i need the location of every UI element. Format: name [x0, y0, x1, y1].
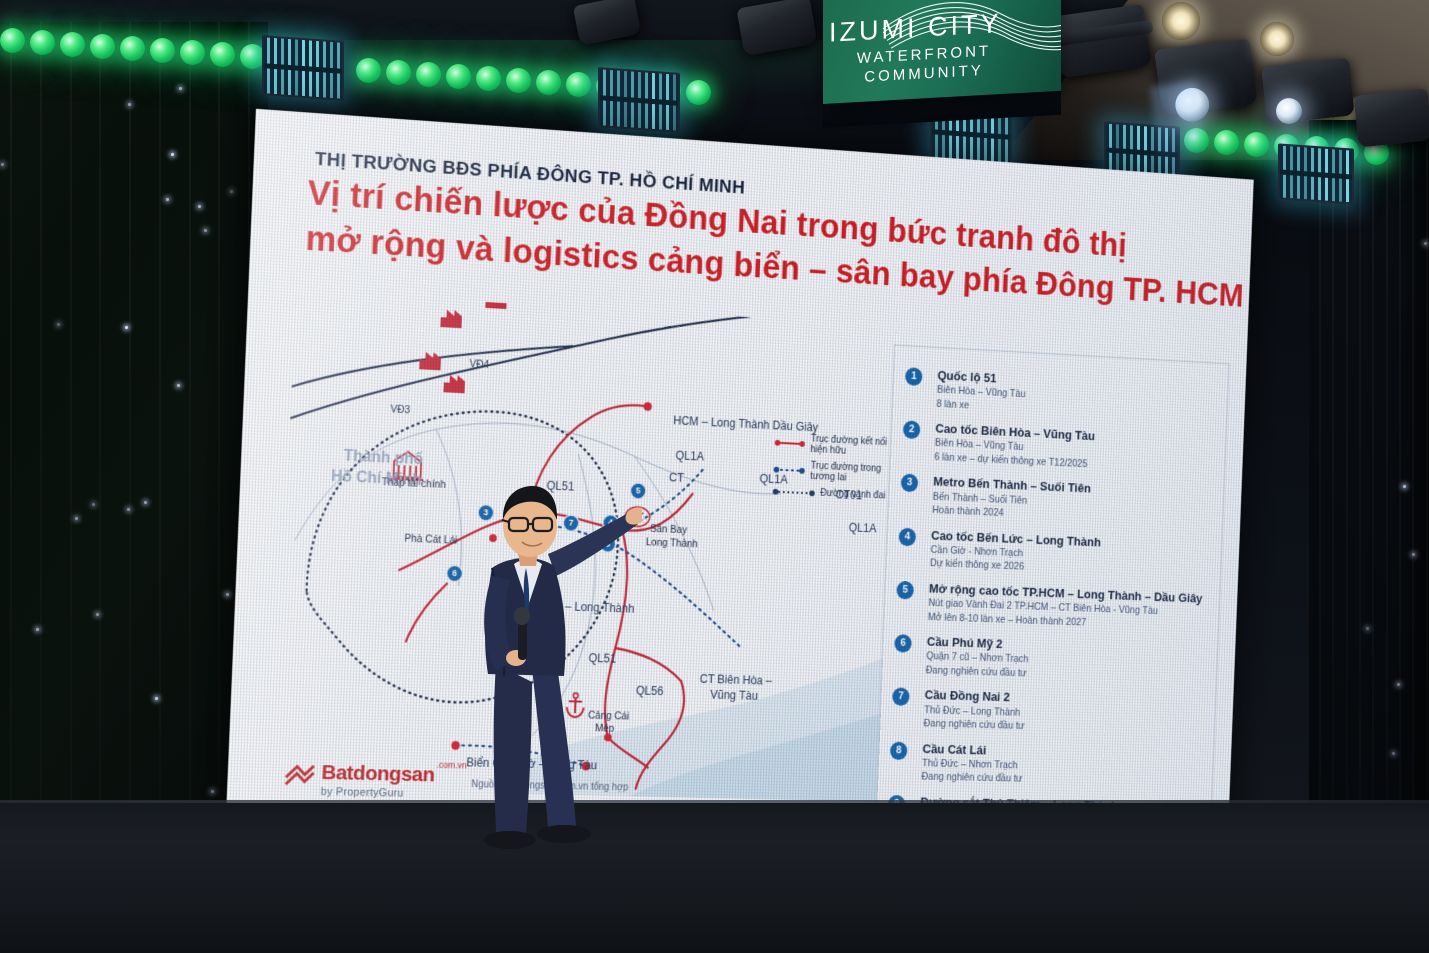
project-item[interactable]: 5Mở rộng cao tốc TP.HCM – Long Thành – D…	[895, 580, 1205, 634]
par-light	[180, 40, 205, 65]
curtain-star-light	[155, 697, 158, 700]
project-number-badge: 8	[890, 741, 908, 759]
house-logo-icon	[283, 757, 318, 788]
curtain-star-light	[96, 613, 99, 616]
map-label: Thành phố	[343, 448, 423, 469]
map-legend-item: Trục đường kết nối hiện hữu	[775, 432, 892, 459]
curtain-star-light	[36, 628, 39, 631]
moving-head-fixture	[1154, 38, 1257, 115]
curtain-star-light	[1403, 485, 1406, 488]
project-number-badge: 4	[898, 527, 916, 546]
led-wash-panel	[262, 35, 344, 101]
map-label: Sân Bay	[650, 523, 687, 536]
curtain-star-light	[226, 593, 229, 596]
par-light	[30, 30, 55, 55]
par-light	[90, 34, 115, 59]
led-wash-panel	[1278, 143, 1354, 204]
project-number-badge: 1	[905, 367, 923, 386]
par-light	[416, 62, 441, 87]
moving-head-fixture	[1052, 4, 1152, 78]
curtain-star-light	[75, 517, 78, 520]
project-item[interactable]: 7Cầu Đồng Nai 2Thủ Đức – Long ThànhĐang …	[891, 687, 1201, 738]
presentation-slide: THỊ TRƯỜNG BĐS PHÍA ĐÔNG TP. HỒ CHÍ MINH…	[224, 109, 1254, 876]
logo-name: Batdongsan	[321, 761, 435, 786]
par-light	[1244, 132, 1269, 157]
industrial-zone-icons	[418, 291, 507, 395]
par-light	[120, 36, 145, 61]
curtain-star-light	[198, 205, 201, 208]
project-number-badge: 6	[894, 634, 912, 653]
brand-logo: Batdongsan .com.vn by PropertyGuru	[282, 757, 435, 800]
par-light	[506, 68, 531, 93]
curtain-star-light	[179, 87, 182, 90]
project-number-badge: 2	[903, 421, 921, 440]
curtain-star-light	[144, 501, 147, 504]
par-light	[150, 38, 175, 63]
project-item[interactable]: 8Cầu Cát LáiThủ Đức – Nhơn TrạchĐang ngh…	[889, 740, 1199, 790]
par-light	[210, 42, 235, 67]
project-number-badge: 7	[892, 688, 910, 707]
legend-line-existing-icon	[776, 442, 804, 445]
map-label: CT	[669, 471, 684, 485]
map-label: QL1A	[848, 521, 876, 535]
led-wash-panel	[598, 67, 680, 133]
map-label: CT Biên Hòa –	[699, 672, 772, 688]
par-light	[0, 28, 25, 53]
map-label: Vũng Tàu	[710, 688, 758, 703]
project-item[interactable]: 6Cầu Phú Mỹ 2Quận 7 cũ – Nhơn TrạchĐang …	[893, 633, 1203, 685]
led-ring-fixture	[1162, 2, 1200, 40]
legend-label: Trục đường kết nối hiện hữu	[810, 434, 892, 459]
par-light	[446, 64, 471, 89]
map-legend: Trục đường kết nối hiện hữu Trục đường t…	[773, 432, 892, 507]
curtain-star-light	[125, 326, 128, 329]
led-ring-fixture	[1260, 22, 1294, 56]
moving-head-fixture	[1353, 88, 1429, 147]
project-item[interactable]: 3Metro Bến Thành – Suối TiênBến Thành – …	[900, 473, 1210, 529]
curtain-star-light	[92, 503, 95, 506]
curtain-star-light	[230, 190, 233, 193]
curtain-star-light	[204, 229, 207, 232]
par-light	[1214, 130, 1239, 155]
moving-head-fixture	[1261, 58, 1355, 125]
curtain-star-light	[177, 384, 180, 387]
map-label: QL1A	[759, 472, 788, 487]
map-label: VĐ3	[390, 403, 410, 416]
project-item[interactable]: 2Cao tốc Biên Hòa – Vũng TàuBiên Hòa – V…	[902, 420, 1211, 477]
event-stage-scene: IZUMI CITY WATERFRONT COMMUNITY THỊ TRƯỜ…	[0, 0, 1429, 953]
curtain-star-light	[1392, 752, 1395, 755]
map-label: VĐ4	[469, 358, 489, 371]
map-legend-item: Trục đường trong tương lai	[774, 459, 891, 485]
stage-floor	[0, 803, 1429, 953]
par-light	[386, 60, 411, 85]
map-label: Phà Cát Lái	[404, 533, 457, 547]
project-number-badge: 5	[896, 581, 914, 600]
curtain-star-light	[1, 163, 4, 166]
map-label: QL1A	[675, 449, 704, 464]
led-wall-screen: THỊ TRƯỜNG BĐS PHÍA ĐÔNG TP. HỒ CHÍ MINH…	[224, 109, 1254, 876]
curtain-star-light	[166, 198, 169, 201]
legend-label: Trục đường trong tương lai	[810, 461, 891, 486]
project-item[interactable]: 4Cao tốc Bến Lức – Long ThànhCần Giờ - N…	[898, 526, 1208, 581]
map-legend-item: Đường vành đai	[774, 486, 890, 502]
project-list: 1Quốc lộ 51Biên Hòa – Vũng Tàu8 làn xe2C…	[886, 366, 1213, 852]
legend-line-ring-icon	[774, 490, 814, 494]
curtain-star-light	[1366, 627, 1369, 630]
map-label: Long Thành	[646, 536, 698, 550]
slide-title: Vị trí chiến lược của Đồng Nai trong bức…	[305, 170, 1247, 317]
map-label: CT01	[835, 488, 862, 503]
curtain-star-light	[57, 323, 60, 326]
curtain-star-light	[211, 790, 214, 793]
par-light	[356, 58, 381, 83]
par-light	[1184, 128, 1209, 153]
venue-sign: IZUMI CITY WATERFRONT COMMUNITY	[823, 0, 1061, 104]
par-light	[686, 80, 711, 105]
presenter-person	[452, 468, 642, 868]
project-number-badge: 3	[901, 474, 919, 493]
par-light	[476, 66, 501, 91]
legend-line-future-icon	[775, 469, 805, 472]
par-light	[566, 72, 591, 97]
par-light	[536, 70, 561, 95]
par-light	[60, 32, 85, 57]
curtain-star-light	[171, 153, 174, 156]
